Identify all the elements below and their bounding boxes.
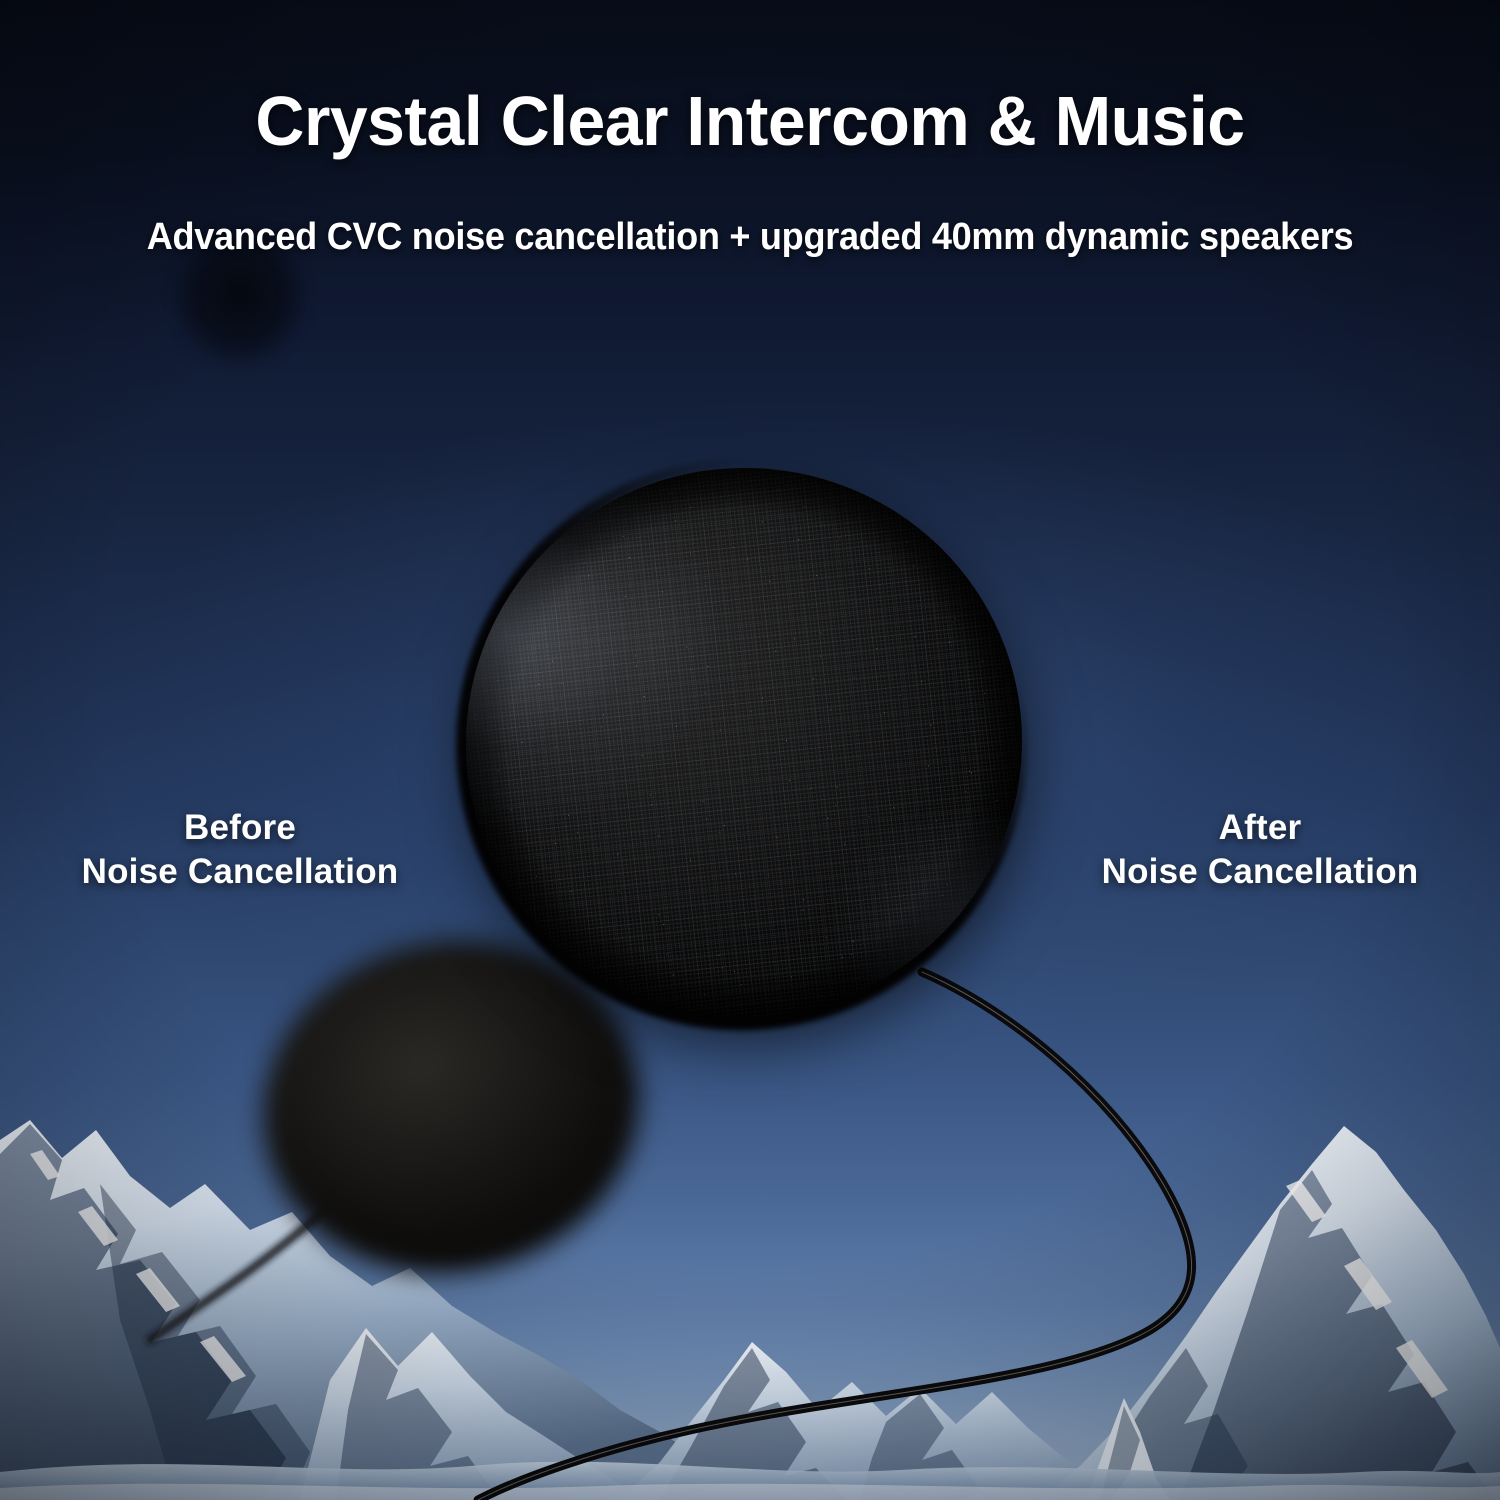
- label-before-line2: Noise Cancellation: [20, 850, 460, 894]
- speaker-driver-main: [439, 440, 1049, 1043]
- label-after-line1: After: [1040, 806, 1480, 850]
- label-before-noise-cancellation: Before Noise Cancellation: [20, 806, 460, 894]
- label-after-line2: Noise Cancellation: [1040, 850, 1480, 894]
- page-title: Crystal Clear Intercom & Music: [23, 86, 1478, 156]
- label-after-noise-cancellation: After Noise Cancellation: [1040, 806, 1480, 894]
- mountain-range: [0, 1080, 1500, 1500]
- label-before-line1: Before: [20, 806, 460, 850]
- speaker-rim-highlight: [439, 440, 1049, 1043]
- page-subtitle: Advanced CVC noise cancellation + upgrad…: [38, 218, 1463, 256]
- product-marketing-image: Crystal Clear Intercom & Music Advanced …: [0, 0, 1500, 1500]
